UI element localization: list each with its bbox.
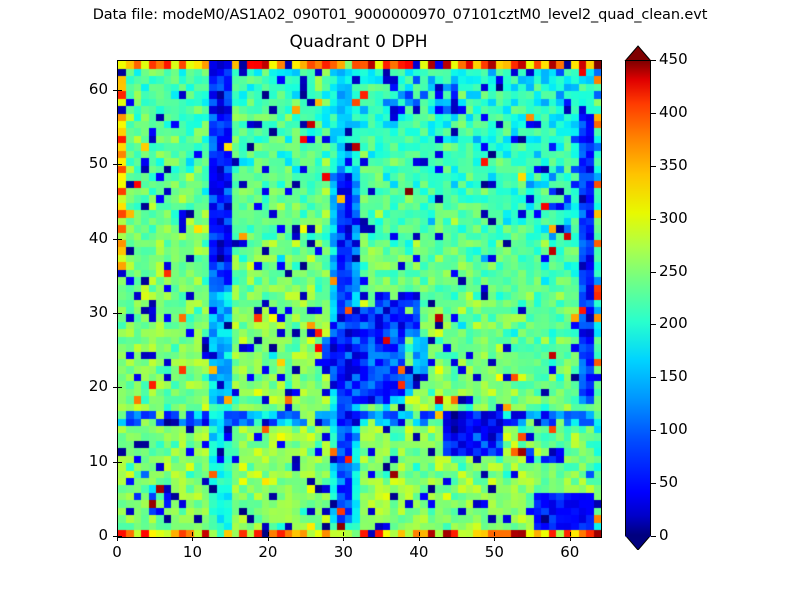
x-tick-mark-inner [343, 532, 344, 536]
figure-suptitle: Data file: modeM0/AS1A02_090T01_90000009… [0, 7, 800, 23]
x-tick-label: 20 [248, 543, 288, 561]
colorbar-tick-mark [651, 272, 656, 273]
colorbar-gradient [625, 60, 651, 536]
y-tick-label: 10 [66, 452, 108, 470]
colorbar-tick-mark [651, 113, 656, 114]
page-title: Quadrant 0 DPH [117, 32, 600, 52]
y-tick-mark-inner [118, 164, 122, 165]
colorbar-tick-label: 50 [659, 473, 678, 491]
colorbar-tick-mark [651, 166, 656, 167]
x-tick-mark [268, 537, 269, 541]
x-tick-mark [192, 537, 193, 541]
y-tick-mark-inner [118, 387, 122, 388]
y-tick-mark [113, 239, 117, 240]
x-tick-mark [494, 537, 495, 541]
x-tick-mark-inner [570, 532, 571, 536]
x-tick-label: 40 [399, 543, 439, 561]
x-tick-label: 0 [97, 543, 137, 561]
x-tick-mark [117, 537, 118, 541]
matplotlib-figure: Data file: modeM0/AS1A02_090T01_90000009… [0, 0, 800, 600]
x-tick-mark-inner [494, 532, 495, 536]
x-tick-mark-inner [419, 532, 420, 536]
x-tick-label: 10 [172, 543, 212, 561]
x-tick-mark-inner [192, 532, 193, 536]
colorbar-tick-mark [651, 483, 656, 484]
colorbar-tick-mark [651, 60, 656, 61]
y-tick-mark [113, 387, 117, 388]
colorbar-tick-label: 350 [659, 156, 688, 174]
x-tick-label: 50 [474, 543, 514, 561]
colorbar-tick-label: 450 [659, 50, 688, 68]
colorbar-tick-label: 0 [659, 526, 669, 544]
y-tick-mark [113, 313, 117, 314]
colorbar-tick-label: 300 [659, 209, 688, 227]
x-tick-mark-inner [268, 532, 269, 536]
y-tick-label: 60 [66, 80, 108, 98]
x-tick-label: 30 [323, 543, 363, 561]
y-tick-mark [113, 536, 117, 537]
y-tick-mark-inner [118, 90, 122, 91]
colorbar-tick-label: 200 [659, 314, 688, 332]
x-tick-mark [343, 537, 344, 541]
y-tick-label: 40 [66, 229, 108, 247]
y-tick-mark [113, 90, 117, 91]
colorbar-tick-label: 250 [659, 262, 688, 280]
y-tick-label: 50 [66, 154, 108, 172]
colorbar-extend-down-arrow [625, 535, 651, 550]
x-tick-mark [419, 537, 420, 541]
y-tick-mark-inner [118, 462, 122, 463]
y-tick-mark-inner [118, 536, 122, 537]
y-tick-label: 0 [66, 526, 108, 544]
colorbar-tick-mark [651, 536, 656, 537]
heatmap-axes [117, 60, 602, 538]
x-tick-label: 60 [550, 543, 590, 561]
colorbar-tick-mark [651, 219, 656, 220]
y-tick-mark-inner [118, 313, 122, 314]
colorbar[interactable] [625, 60, 651, 536]
colorbar-tick-label: 400 [659, 103, 688, 121]
y-tick-mark [113, 164, 117, 165]
y-tick-mark [113, 462, 117, 463]
colorbar-tick-mark [651, 324, 656, 325]
dph-heatmap-image [118, 61, 601, 537]
colorbar-tick-mark [651, 430, 656, 431]
colorbar-tick-mark [651, 377, 656, 378]
colorbar-extend-up-arrow [625, 46, 651, 61]
y-tick-label: 30 [66, 303, 108, 321]
x-tick-mark [570, 537, 571, 541]
y-tick-label: 20 [66, 377, 108, 395]
y-tick-mark-inner [118, 239, 122, 240]
colorbar-tick-label: 150 [659, 367, 688, 385]
colorbar-tick-label: 100 [659, 420, 688, 438]
